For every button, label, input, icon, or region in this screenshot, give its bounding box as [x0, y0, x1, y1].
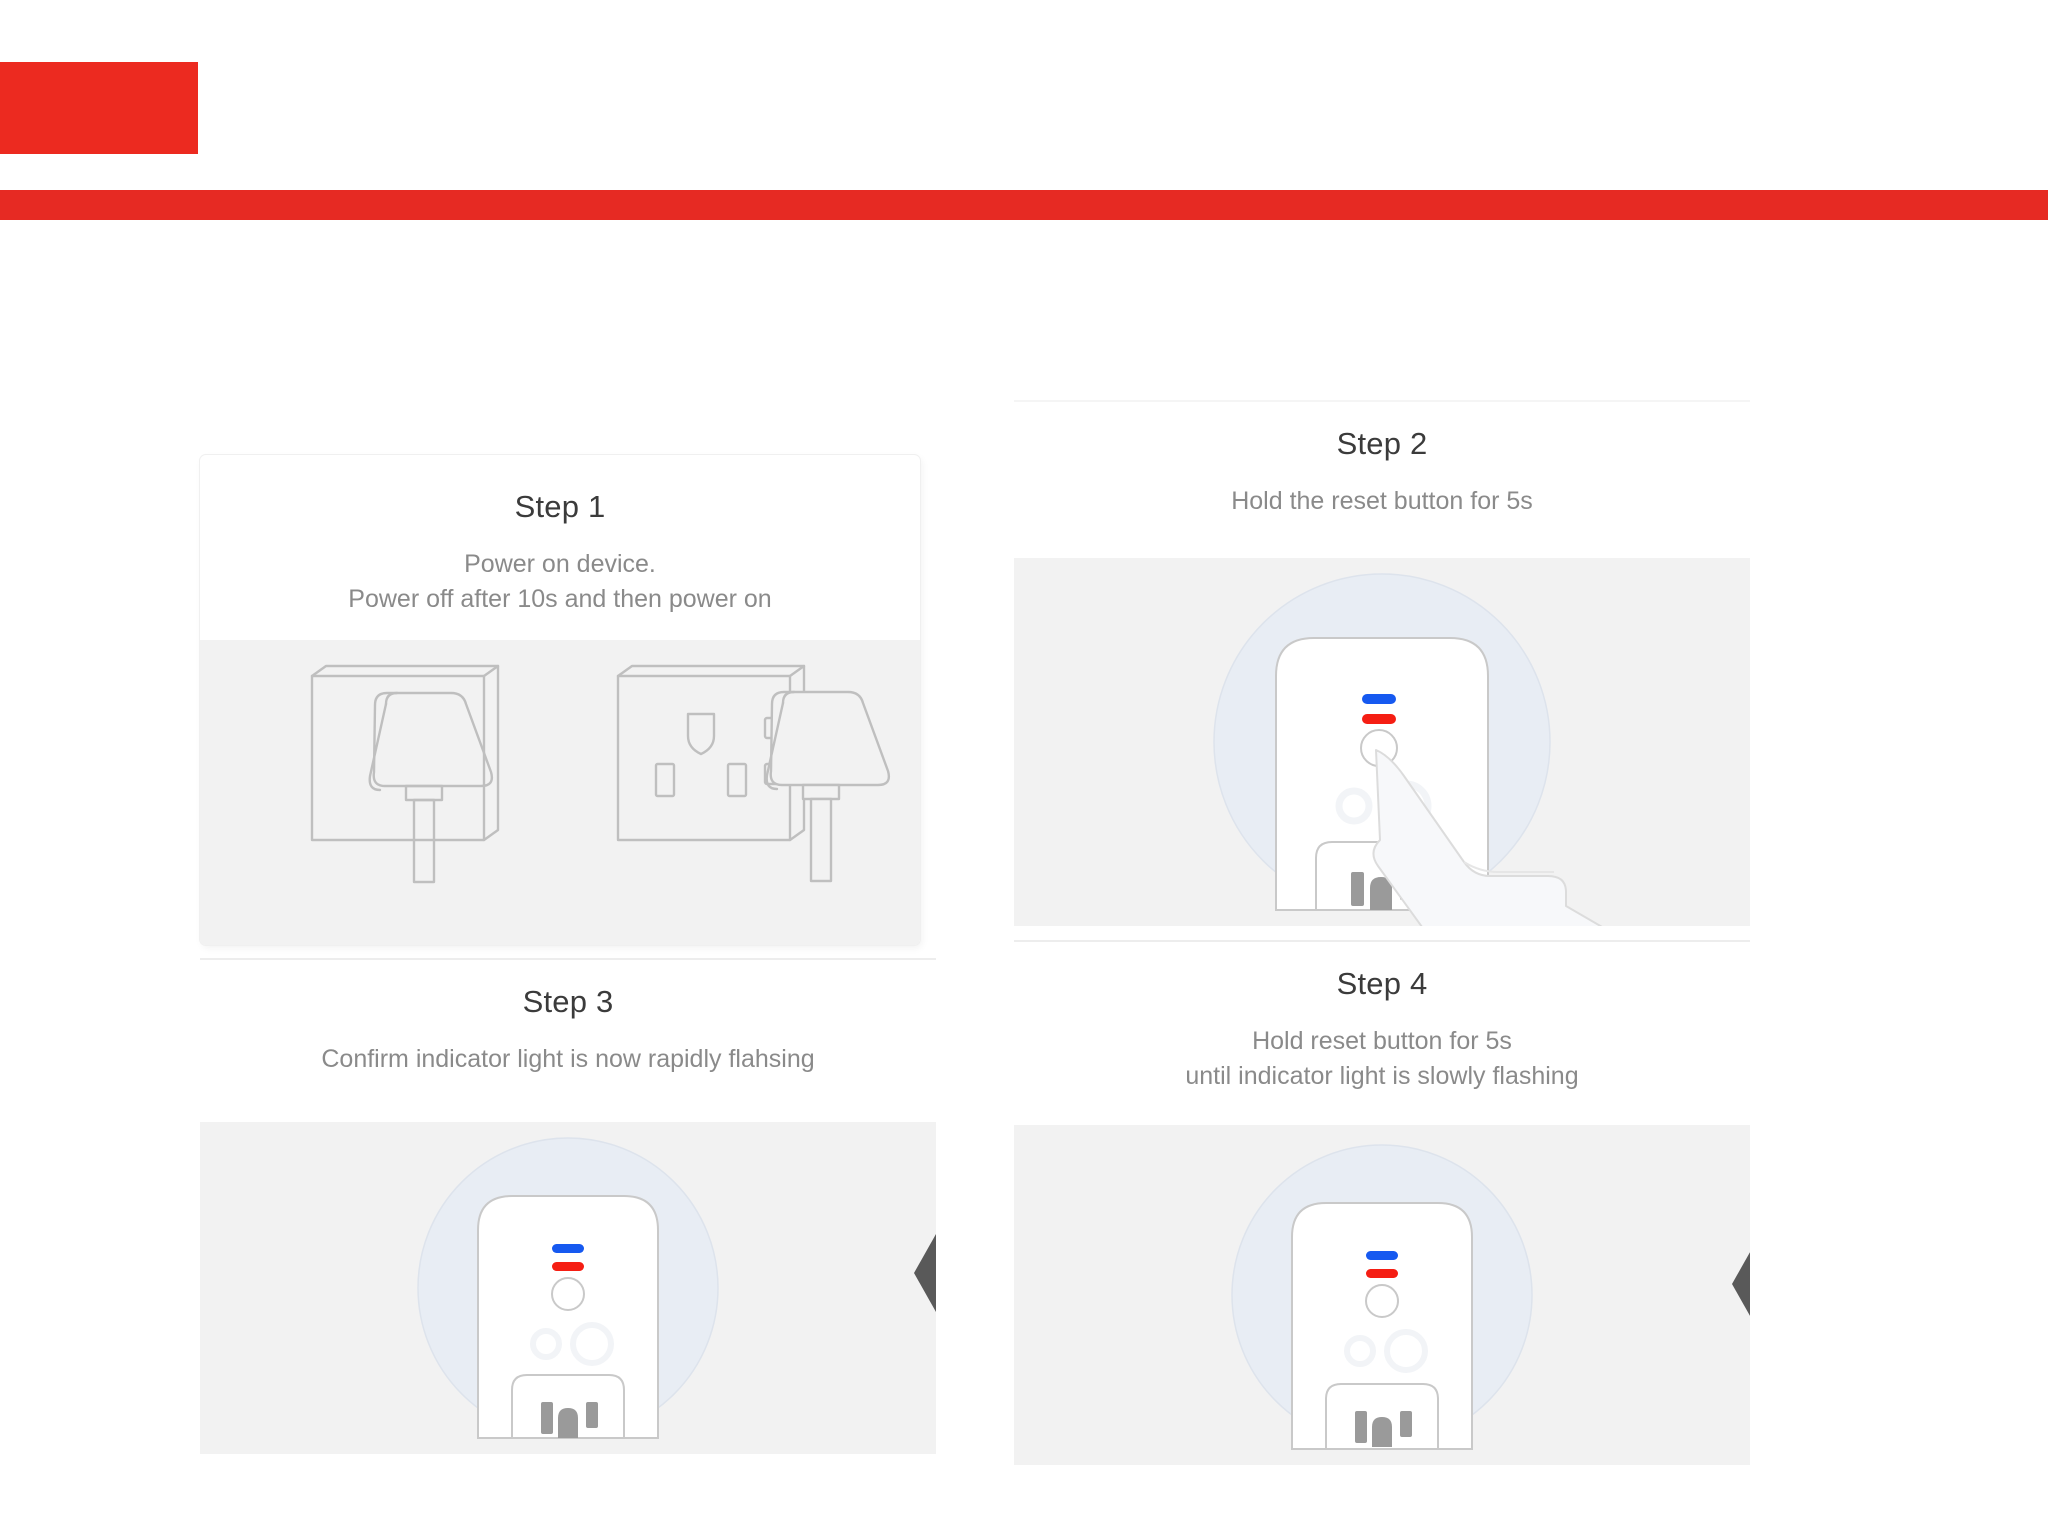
step-4-description-line-2: until indicator light is slowly flashing [1014, 1059, 1750, 1094]
step-2-header: Step 2 Hold the reset button for 5s [1014, 400, 1750, 519]
step-2-separator [1014, 400, 1750, 402]
step-1-title: Step 1 [200, 489, 920, 525]
step-1-description-line-2: Power off after 10s and then power on [200, 582, 920, 617]
step-1-description: Power on device. Power off after 10s and… [200, 547, 920, 616]
step-3-header: Step 3 Confirm indicator light is now ra… [200, 958, 936, 1077]
step-3-description: Confirm indicator light is now rapidly f… [200, 1042, 936, 1077]
step-2-title: Step 2 [1014, 426, 1750, 462]
step-2-description: Hold the reset button for 5s [1014, 484, 1750, 519]
step-4-description-line-1: Hold reset button for 5s [1014, 1024, 1750, 1059]
step-2-illustration-panel [1014, 558, 1750, 926]
smart-plug-indicator-icon [1014, 1125, 1750, 1465]
smart-plug-indicator-icon [200, 1122, 936, 1454]
smart-plug-hand-press-icon [1014, 558, 1750, 926]
step-4-separator [1014, 940, 1750, 942]
step-4-title: Step 4 [1014, 966, 1750, 1002]
step-card-2: Step 2 Hold the reset button for 5s [1014, 400, 1750, 945]
step-4-illustration-panel: 1 time every 3s [1014, 1125, 1750, 1465]
step-1-illustration-panel [200, 640, 920, 945]
step-1-header: Step 1 Power on device. Power off after … [200, 455, 920, 616]
step-2-description-line-1: Hold the reset button for 5s [1014, 484, 1750, 519]
step-4-description: Hold reset button for 5s until indicator… [1014, 1024, 1750, 1093]
step-card-4: Step 4 Hold reset button for 5s until in… [1014, 940, 1750, 1470]
step-3-title: Step 3 [200, 984, 936, 1020]
step-4-header: Step 4 Hold reset button for 5s until in… [1014, 940, 1750, 1093]
step-card-1: Step 1 Power on device. Power off after … [200, 455, 920, 945]
step-3-description-line-1: Confirm indicator light is now rapidly f… [200, 1042, 936, 1077]
step-card-3: Step 3 Confirm indicator light is now ra… [200, 958, 936, 1458]
steps-grid: Step 1 Power on device. Power off after … [0, 0, 2048, 1536]
step-1-description-line-1: Power on device. [200, 547, 920, 582]
step-3-separator [200, 958, 936, 960]
step-3-illustration-panel: 2 times per second [200, 1122, 936, 1454]
wall-socket-plugs-icon [200, 640, 920, 945]
